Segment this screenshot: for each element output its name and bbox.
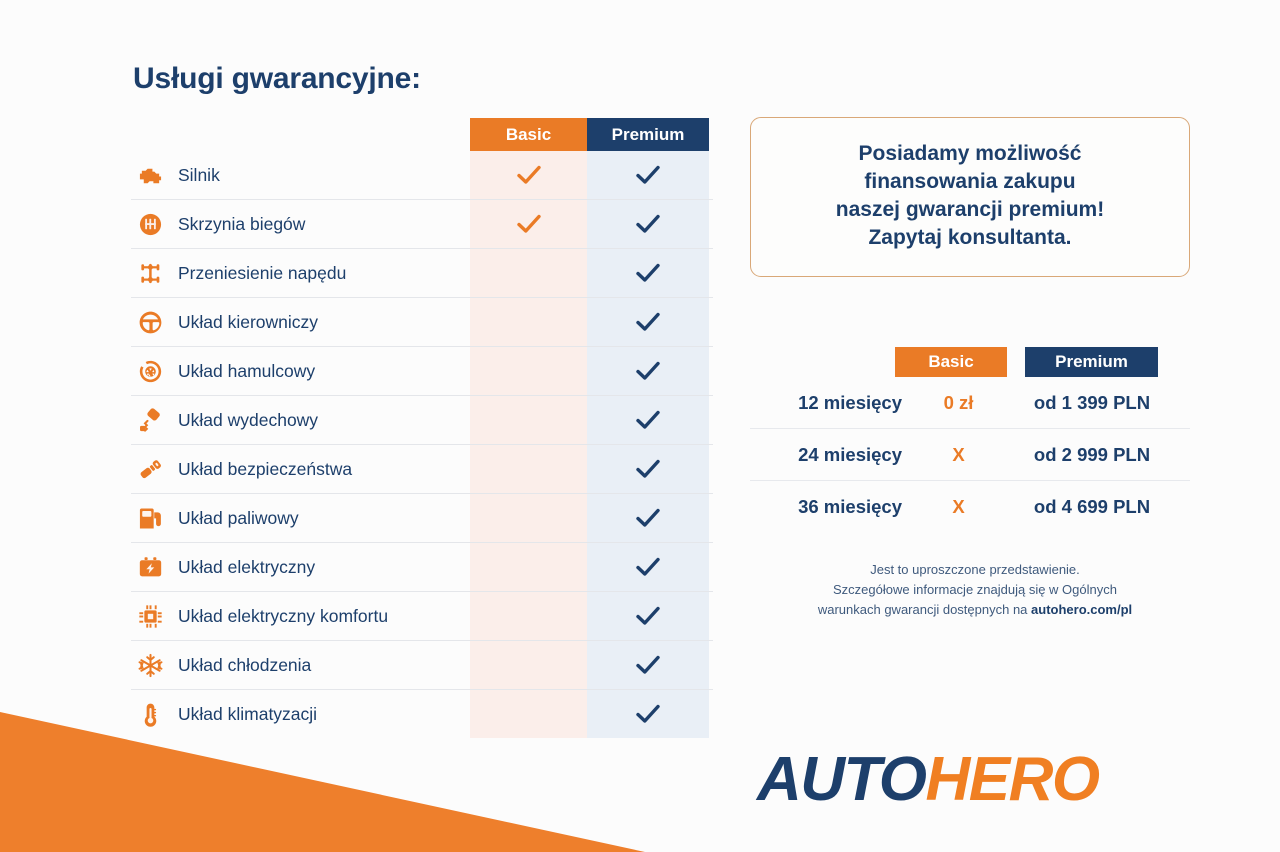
- table-row: Układ paliwowy: [131, 494, 713, 543]
- table-row: Skrzynia biegów: [131, 200, 713, 249]
- premium-cell-check-icon: [587, 396, 709, 444]
- premium-cell-check-icon: [587, 592, 709, 640]
- pricing-row: 36 miesięcyXod 4 699 PLN: [750, 481, 1190, 532]
- basic-cell: [470, 494, 587, 542]
- service-label: Układ bezpieczeństwa: [178, 459, 352, 480]
- chip-icon: [133, 601, 167, 631]
- table-row: Przeniesienie napędu: [131, 249, 713, 298]
- basic-cell: [470, 298, 587, 346]
- exhaust-icon: [133, 405, 167, 435]
- fuel-pump-icon: [133, 503, 167, 533]
- autohero-logo: AUTOHERO: [757, 744, 1099, 815]
- column-header-premium: Premium: [587, 118, 709, 151]
- service-label: Układ klimatyzacji: [178, 704, 317, 725]
- right-column: Posiadamy możliwość finansowania zakupu …: [750, 62, 1190, 620]
- table-row: Układ hamulcowy: [131, 347, 713, 396]
- pricing-basic-value: 0 zł: [910, 377, 1007, 428]
- pricing-column-headers: Basic Premium: [750, 347, 1190, 377]
- service-label: Układ chłodzenia: [178, 655, 311, 676]
- brake-disc-icon: [133, 356, 167, 386]
- disclaimer-line-1: Jest to uproszczone przedstawienie.: [760, 560, 1190, 580]
- pricing-rows: 12 miesięcy0 złod 1 399 PLN24 miesięcyXo…: [750, 377, 1190, 532]
- service-label: Układ paliwowy: [178, 508, 299, 529]
- disclaimer-line-3: warunkach gwarancji dostępnych na autohe…: [760, 600, 1190, 620]
- basic-cell: [470, 543, 587, 591]
- disclaimer-line-3-prefix: warunkach gwarancji dostępnych na: [818, 602, 1031, 617]
- basic-cell: [470, 249, 587, 297]
- engine-icon: [133, 160, 167, 190]
- gearbox-icon: [133, 209, 167, 239]
- service-label: Układ kierowniczy: [178, 312, 318, 333]
- pricing-premium-value: od 2 999 PLN: [1022, 429, 1162, 480]
- pricing-premium-value: od 4 699 PLN: [1022, 481, 1162, 532]
- pricing-basic-value: X: [910, 429, 1007, 480]
- premium-cell-check-icon: [587, 543, 709, 591]
- disclaimer-text: Jest to uproszczone przedstawienie. Szcz…: [750, 560, 1190, 620]
- pricing-term: 36 miesięcy: [750, 481, 902, 532]
- warranty-services-panel: Usługi gwarancyjne: Basic Premium Silnik…: [131, 62, 713, 738]
- page-title: Usługi gwarancyjne:: [133, 62, 713, 96]
- service-label: Układ wydechowy: [178, 410, 318, 431]
- snowflake-icon: [133, 650, 167, 680]
- basic-cell-check-icon: [470, 151, 587, 199]
- basic-cell: [470, 641, 587, 689]
- pricing-row: 24 miesięcyXod 2 999 PLN: [750, 429, 1190, 481]
- table-row: Układ kierowniczy: [131, 298, 713, 347]
- service-label: Silnik: [178, 165, 220, 186]
- table-row: Układ klimatyzacji: [131, 690, 713, 738]
- pricing-premium-value: od 1 399 PLN: [1022, 377, 1162, 428]
- disclaimer-line-2: Szczegółowe informacje znajdują się w Og…: [760, 580, 1190, 600]
- table-row: Układ wydechowy: [131, 396, 713, 445]
- column-header-basic: Basic: [470, 118, 587, 151]
- service-label: Układ hamulcowy: [178, 361, 315, 382]
- logo-text-auto: AUTO: [757, 745, 926, 814]
- premium-cell-check-icon: [587, 690, 709, 738]
- logo-text-hero: HERO: [926, 745, 1099, 814]
- table-row: Układ elektryczny komfortu: [131, 592, 713, 641]
- basic-cell: [470, 592, 587, 640]
- autohero-url-link[interactable]: autohero.com/pl: [1031, 602, 1132, 617]
- basic-cell: [470, 347, 587, 395]
- table-row: Silnik: [131, 151, 713, 200]
- pricing-table: Basic Premium 12 miesięcy0 złod 1 399 PL…: [750, 347, 1190, 532]
- service-label: Układ elektryczny: [178, 557, 315, 578]
- table-row: Układ bezpieczeństwa: [131, 445, 713, 494]
- pricing-basic-value: X: [910, 481, 1007, 532]
- pricing-header-premium: Premium: [1025, 347, 1158, 377]
- service-label: Przeniesienie napędu: [178, 263, 346, 284]
- service-label: Skrzynia biegów: [178, 214, 305, 235]
- premium-cell-check-icon: [587, 298, 709, 346]
- table-column-headers: Basic Premium: [131, 118, 713, 151]
- financing-line-3: naszej gwarancji premium!: [769, 196, 1171, 224]
- thermometer-icon: [133, 699, 167, 729]
- basic-cell: [470, 396, 587, 444]
- steering-wheel-icon: [133, 307, 167, 337]
- pricing-header-basic: Basic: [895, 347, 1007, 377]
- premium-cell-check-icon: [587, 347, 709, 395]
- premium-cell-check-icon: [587, 200, 709, 248]
- drivetrain-icon: [133, 258, 167, 288]
- financing-line-2: finansowania zakupu: [769, 168, 1171, 196]
- premium-cell-check-icon: [587, 445, 709, 493]
- pricing-term: 24 miesięcy: [750, 429, 902, 480]
- battery-icon: [133, 552, 167, 582]
- financing-line-4: Zapytaj konsultanta.: [769, 224, 1171, 252]
- basic-cell: [470, 445, 587, 493]
- premium-cell-check-icon: [587, 151, 709, 199]
- premium-cell-check-icon: [587, 494, 709, 542]
- premium-cell-check-icon: [587, 249, 709, 297]
- seatbelt-icon: [133, 454, 167, 484]
- pricing-row: 12 miesięcy0 złod 1 399 PLN: [750, 377, 1190, 429]
- financing-line-1: Posiadamy możliwość: [769, 140, 1171, 168]
- financing-callout-box: Posiadamy możliwość finansowania zakupu …: [750, 117, 1190, 277]
- services-comparison-table: Basic Premium SilnikSkrzynia biegówPrzen…: [131, 118, 713, 738]
- premium-cell-check-icon: [587, 641, 709, 689]
- service-label: Układ elektryczny komfortu: [178, 606, 388, 627]
- table-row: Układ chłodzenia: [131, 641, 713, 690]
- basic-cell-check-icon: [470, 200, 587, 248]
- table-row: Układ elektryczny: [131, 543, 713, 592]
- basic-cell: [470, 690, 587, 738]
- pricing-term: 12 miesięcy: [750, 377, 902, 428]
- services-rows: SilnikSkrzynia biegówPrzeniesienie napęd…: [131, 151, 713, 738]
